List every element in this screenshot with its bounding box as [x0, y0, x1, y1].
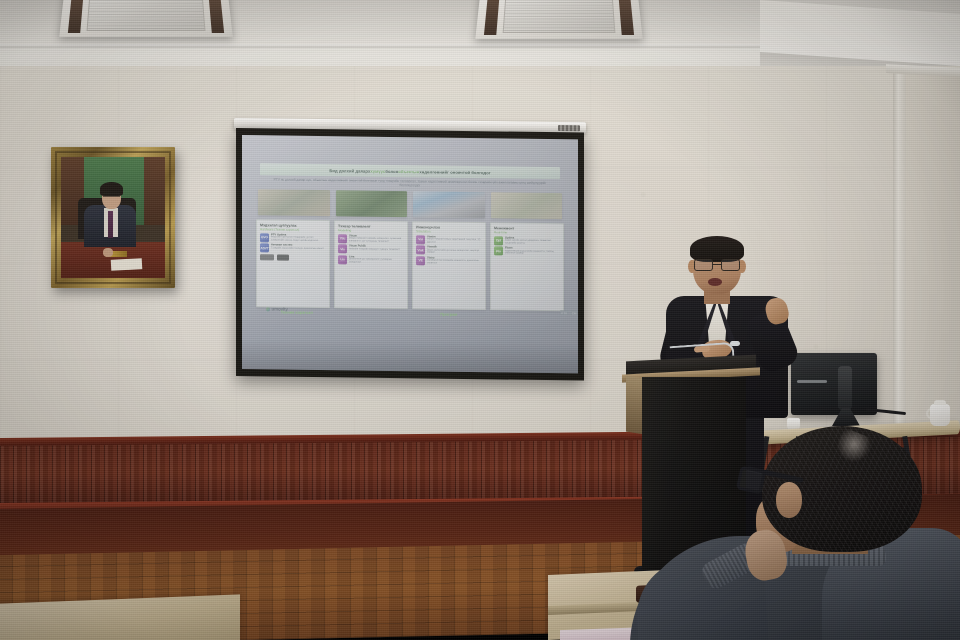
screen-bottom-shading [242, 339, 578, 373]
product-desc: Дохиоллын цаг хуваарилалт, уулзварын заг… [349, 258, 404, 265]
thumb-forest [336, 190, 408, 217]
thumb-intersection [413, 191, 485, 218]
product-item: Vwk Viswalk Явган зорчигчийн урсгалын за… [416, 246, 482, 256]
product-icon: EVO [260, 233, 269, 242]
product-desc: Нийтийн тээврийн маршрут, хуваарь төлөвл… [349, 248, 404, 252]
slide-title-p3: хөдөлгөөнийг оновчтой болгодог [419, 169, 490, 175]
wall-pilaster [893, 70, 906, 450]
slide-title-p1: Бид дэлхий даяарх [329, 168, 370, 174]
card-subheading: Real-time [494, 230, 560, 235]
slide-thumbnail-row [258, 189, 562, 219]
slide-card: Мэдээлэл цуглуулах Hardware (Техник хэрэ… [256, 219, 330, 308]
slide-card: Менежмент Real-time Opt Optima Бодит цаг… [490, 222, 564, 311]
slide-card: Инженерчлэл Simulation Vsi Vissim Микро … [412, 221, 486, 310]
product-item: Ptv Flows Хөдөлгөөний мэдээллийн шинжилг… [494, 247, 560, 257]
product-item: Vtt Vistro Уулзварын багтаамжийн шинжилг… [416, 256, 482, 266]
microphone-head [730, 341, 740, 346]
card-subheading: Modelling [338, 228, 404, 233]
device-image [277, 255, 289, 261]
product-icon: Vsi [416, 235, 425, 244]
attendee-desk-left [0, 594, 240, 640]
product-icon: ASVT [260, 244, 269, 253]
product-item: Vsu Visum Макро түвшний тээврийн загварч… [338, 234, 404, 244]
product-desc: Хөдөлгөөний мэдээллийн шинжилгээ, тайлан… [505, 250, 560, 257]
product-icon: Vis [338, 245, 347, 254]
seated-attendee [630, 418, 960, 640]
slide-card-row: Мэдээлэл цуглуулах Hardware (Техник хэрэ… [256, 219, 564, 311]
umovity-logo-mark-icon [266, 307, 270, 311]
framed-portrait-painting [51, 147, 175, 288]
conference-room-photo: Бид дэлхий даяарх хүмүүс болон объектын … [0, 0, 960, 640]
card-subheading: Hardware (Техник хэрэгсэл) [260, 227, 326, 232]
product-icon: Vtt [416, 256, 425, 265]
thumb-region-map [491, 192, 563, 219]
ceiling-ac-cassette-left [59, 0, 233, 37]
monitor-hinge [838, 366, 852, 410]
projected-slide: Бид дэлхий даяарх хүмүүс болон объектын … [254, 163, 566, 327]
presenter-glasses-icon [694, 259, 740, 271]
device-image [260, 255, 274, 261]
badge-cm: CM [570, 310, 578, 315]
product-icon: Opt [494, 236, 503, 245]
product-icon: Lis [338, 255, 347, 264]
portrait-canvas [61, 157, 165, 278]
slide-title-hl1: хүмүүс [370, 168, 385, 173]
slide-title-p2: болон [385, 168, 398, 173]
slide-title: Бид дэлхий даяарх хүмүүс болон объектын … [260, 163, 560, 179]
product-desc: Макро түвшний тээврийн загварчлал, сүлжэ… [349, 237, 404, 244]
ceiling-ac-cassette-right [475, 0, 642, 39]
slide-badges: PTV CM [560, 310, 578, 315]
product-desc: Уулзварын багтаамжийн шинжилгээ, дохиолл… [427, 260, 482, 267]
product-icon: Vsu [338, 234, 347, 243]
slide-card: Тээвэр төлөвлөлт Modelling Vsu Visum Мак… [334, 220, 408, 309]
product-icon: Vwk [416, 246, 425, 255]
product-item: ASVT Автомат систем Тээврийн хэрэгслийн … [260, 244, 326, 254]
product-item: Vis Visum Publik Нийтийн тээврийн маршру… [338, 245, 404, 255]
slide-title-hl2: объектын [398, 169, 419, 174]
product-desc: Бодит цагийн урсгал удирдлага, таамаглал… [505, 239, 560, 246]
card-device-images [260, 255, 326, 262]
badge-ptv: PTV [560, 310, 569, 315]
product-desc: Тээврийн хэрэгслийн тоолуур, дохиоллын х… [271, 247, 326, 251]
product-desc: Явган зорчигчийн урсгалын загварчлал, аю… [427, 249, 482, 256]
thumb-aerial-map [258, 189, 330, 216]
attendee-ear [776, 482, 802, 518]
product-icon: Ptv [494, 247, 503, 256]
pull-down-projector-screen: Бид дэлхий даяарх хүмүүс болон объектын … [242, 135, 578, 373]
presenter-mouth [708, 278, 722, 286]
product-item: Vsi Vissim Микро түвшний замын хөдөлгөөн… [416, 235, 482, 245]
umovity-logo-text: umovity [272, 306, 288, 311]
teapot-lid [934, 400, 946, 405]
product-item: Opt Optima Бодит цагийн урсгал удирдлага… [494, 236, 560, 246]
product-desc: Мэдээлэл цуглуулах төхөөрөмж, урсгал хэм… [271, 236, 326, 243]
slide-subtitle: PTV нь дэлхий даяар хүн, объектын хөдөлг… [264, 177, 556, 190]
product-item: EVO PTV Optima Мэдээлэл цуглуулах төхөөр… [260, 233, 326, 243]
product-desc: Микро түвшний замын хөдөлгөөний симуляци… [427, 238, 482, 245]
card-subheading: Simulation [416, 229, 482, 234]
screen-housing-endcap [558, 124, 580, 130]
right-wall-panel [906, 70, 960, 450]
product-item: Lis Lisa Дохиоллын цаг хуваарилалт, уулз… [338, 255, 404, 265]
umovity-logo: umovity [266, 306, 288, 311]
attendee-glasses-icon [736, 466, 766, 495]
